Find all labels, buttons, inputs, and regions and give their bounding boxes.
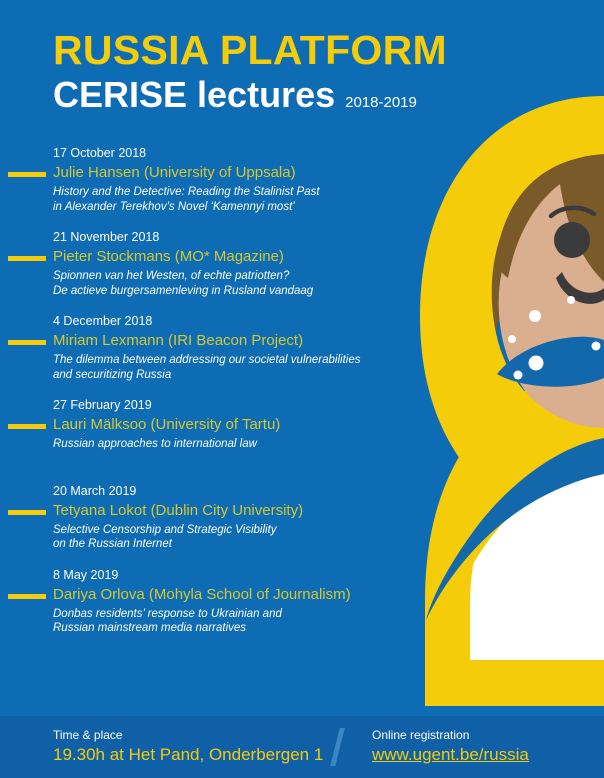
poster-title-sub: CERISE lectures [53, 77, 335, 113]
doll-body-dots [508, 296, 575, 343]
poster-years: 2018-2019 [345, 94, 417, 111]
lecture-date: 20 March 2019 [53, 484, 420, 499]
lecture-item: 20 March 2019 Tetyana Lokot (Dublin City… [0, 484, 420, 552]
doll-eye [551, 208, 594, 258]
footer-time-place-block: Time & place 19.30h at Het Pand, Onderbe… [53, 728, 333, 766]
lecture-speaker: Tetyana Lokot (Dublin City University) [53, 501, 420, 521]
poster-root: RUSSIA PLATFORM CERISE lectures 2018-201… [0, 0, 604, 778]
lecture-list: 17 October 2018 Julie Hansen (University… [0, 146, 420, 652]
lecture-description-line: Selective Censorship and Strategic Visib… [53, 523, 420, 538]
dash-marker-icon [8, 510, 46, 515]
lecture-description-line: Russian approaches to international law [53, 437, 420, 452]
lecture-description: The dilemma between addressing our socie… [53, 353, 420, 382]
lecture-speaker: Dariya Orlova (Mohyla School of Journali… [53, 585, 420, 605]
doll-shoulders [432, 268, 604, 420]
lecture-description-line: History and the Detective: Reading the S… [53, 185, 420, 200]
poster-header: RUSSIA PLATFORM CERISE lectures 2018-201… [53, 30, 473, 113]
lecture-description-line: on the Russian Internet [53, 537, 420, 552]
lecture-description-line: The dilemma between addressing our socie… [53, 353, 420, 368]
lecture-description: Russian approaches to international law [53, 437, 420, 452]
lecture-description-line: Spionnen van het Westen, of echte patrio… [53, 269, 420, 284]
registration-label: Online registration [372, 728, 529, 743]
poster-subtitle-row: CERISE lectures 2018-2019 [53, 77, 473, 113]
lecture-item: 17 October 2018 Julie Hansen (University… [0, 146, 420, 214]
doll-face [488, 118, 604, 434]
lecture-speaker: Lauri Mälksoo (University of Tartu) [53, 415, 420, 435]
lecture-description-line: in Alexander Terekhov’s Novel ‘Kamennyi … [53, 200, 420, 215]
dash-marker-icon [8, 424, 46, 429]
dash-marker-icon [8, 256, 46, 261]
poster-title-main: RUSSIA PLATFORM [53, 30, 473, 71]
doll-mouth [556, 272, 604, 304]
doll-headscarf [420, 96, 604, 620]
lecture-description-line: De actieve burgersamenleving in Rusland … [53, 284, 420, 299]
doll-body [425, 368, 604, 706]
dash-marker-icon [8, 172, 46, 177]
lecture-description-line: and securitizing Russia [53, 368, 420, 383]
poster-footer: Time & place 19.30h at Het Pand, Onderbe… [0, 716, 604, 778]
doll-scarf-ornaments [497, 337, 604, 387]
lecture-description-line: Donbas residents’ response to Ukrainian … [53, 607, 420, 622]
time-place-value: 19.30h at Het Pand, Onderbergen 1 [53, 744, 333, 766]
lecture-date: 17 October 2018 [53, 146, 420, 161]
dash-marker-icon [8, 594, 46, 599]
lecture-item: 8 May 2019 Dariya Orlova (Mohyla School … [0, 568, 420, 636]
lecture-date: 4 December 2018 [53, 314, 420, 329]
lecture-description: History and the Detective: Reading the S… [53, 185, 420, 214]
lecture-description: Spionnen van het Westen, of echte patrio… [53, 269, 420, 298]
lecture-description: Donbas residents’ response to Ukrainian … [53, 607, 420, 636]
registration-link[interactable]: www.ugent.be/russia [372, 744, 529, 766]
lecture-item: 4 December 2018 Miriam Lexmann (IRI Beac… [0, 314, 420, 382]
lecture-speaker: Julie Hansen (University of Uppsala) [53, 163, 420, 183]
lecture-description-line: Russian mainstream media narratives [53, 621, 420, 636]
lecture-date: 8 May 2019 [53, 568, 420, 583]
lecture-date: 21 November 2018 [53, 230, 420, 245]
time-place-label: Time & place [53, 728, 333, 743]
lecture-item: 27 February 2019 Lauri Mälksoo (Universi… [0, 398, 420, 452]
lecture-date: 27 February 2019 [53, 398, 420, 413]
lecture-item: 21 November 2018 Pieter Stockmans (MO* M… [0, 230, 420, 298]
lecture-description: Selective Censorship and Strategic Visib… [53, 523, 420, 552]
lecture-speaker: Miriam Lexmann (IRI Beacon Project) [53, 331, 420, 351]
doll-hair [466, 118, 604, 352]
footer-registration-block: Online registration www.ugent.be/russia [372, 728, 529, 766]
lecture-speaker: Pieter Stockmans (MO* Magazine) [53, 247, 420, 267]
dash-marker-icon [8, 340, 46, 345]
